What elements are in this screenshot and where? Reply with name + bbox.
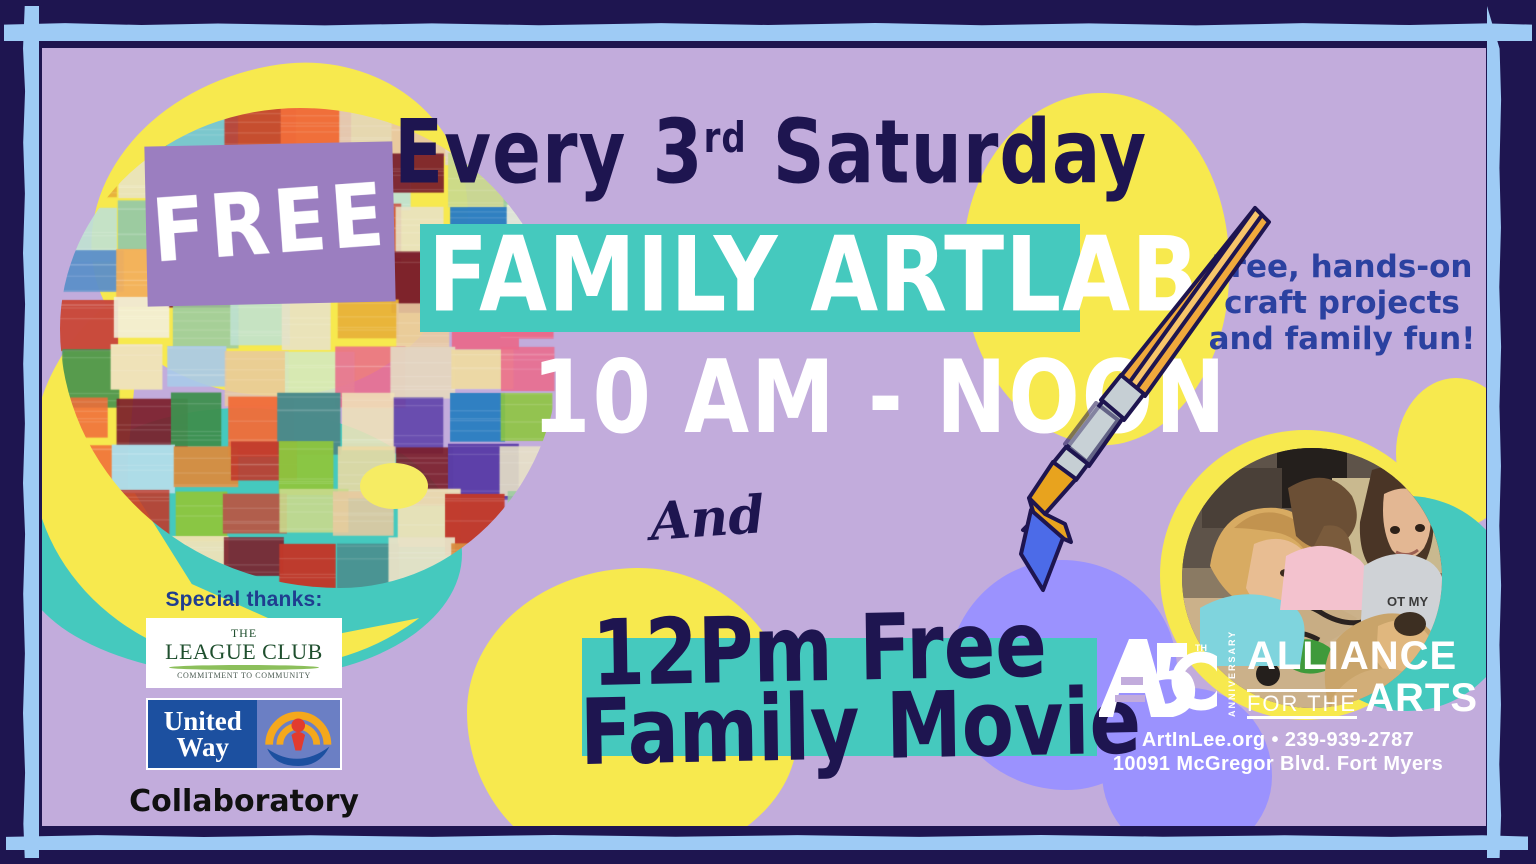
poster-canvas: FREE Every 3rd Saturday FAMILY ARTLAB 10… [42, 48, 1486, 826]
collaboratory-logo: Collaboratory [104, 784, 384, 819]
league-club-line3: COMMITMENT TO COMMUNITY [177, 671, 311, 680]
a50-th-suffix: TH [1195, 643, 1207, 653]
league-club-swoosh [169, 665, 319, 670]
painting-yellow-dot [360, 463, 428, 509]
headline-part-2: Saturday [747, 101, 1148, 203]
alliance-name-line1: ALLIANCE [1247, 636, 1478, 676]
frame-stroke-top [4, 22, 1532, 41]
movie-line-2: Family Movie [579, 667, 1141, 786]
svg-text:OT MY: OT MY [1387, 594, 1428, 609]
headline-part-1: Every 3 [394, 101, 704, 203]
headline-every-3rd-saturday: Every 3rd Saturday [394, 101, 1147, 203]
united-way-logo: United Way [146, 698, 342, 770]
united-way-wordmark: United Way [148, 700, 257, 768]
special-thanks-label: Special thanks: [104, 588, 384, 612]
headline-ordinal-suffix: rd [704, 114, 747, 163]
alliance-name-line2: FOR THE ARTS [1247, 678, 1478, 719]
sponsors-block: Special thanks: THE LEAGUE CLUB COMMITME… [104, 588, 384, 819]
league-club-line2: LEAGUE CLUB [165, 641, 323, 663]
league-club-logo: THE LEAGUE CLUB COMMITMENT TO COMMUNITY [146, 618, 342, 688]
alliance-arts: ARTS [1365, 678, 1478, 718]
alliance-logo-row: TH ANNIVERSARY ALLIANCE FOR THE ARTS [1078, 636, 1478, 719]
united-way-line1: United [164, 708, 242, 734]
united-way-symbol [257, 700, 340, 768]
contact-line-2: 10091 McGregor Blvd. Fort Myers [1078, 752, 1478, 776]
frame-stroke-right [1487, 6, 1502, 858]
alliance-for-the: FOR THE [1247, 689, 1357, 719]
frame-stroke-bottom [6, 834, 1528, 850]
paintbrush-icon [1017, 198, 1277, 598]
a50-anniversary-mark: TH [1099, 637, 1217, 719]
free-badge-label: FREE [149, 165, 392, 283]
alliance-wordmark: ALLIANCE FOR THE ARTS [1247, 636, 1478, 719]
contact-info: ArtInLee.org • 239-939-2787 10091 McGreg… [1078, 728, 1478, 776]
frame-stroke-left [22, 6, 39, 858]
free-badge: FREE [144, 141, 395, 306]
and-connector: And [648, 484, 766, 553]
alliance-for-the-arts-logo: TH ANNIVERSARY ALLIANCE FOR THE ARTS Art… [1078, 636, 1478, 776]
contact-line-1: ArtInLee.org • 239-939-2787 [1078, 728, 1478, 752]
anniversary-vertical-label: ANNIVERSARY [1227, 639, 1237, 717]
united-way-line2: Way [176, 734, 229, 760]
poster-root: FREE Every 3rd Saturday FAMILY ARTLAB 10… [0, 0, 1536, 864]
